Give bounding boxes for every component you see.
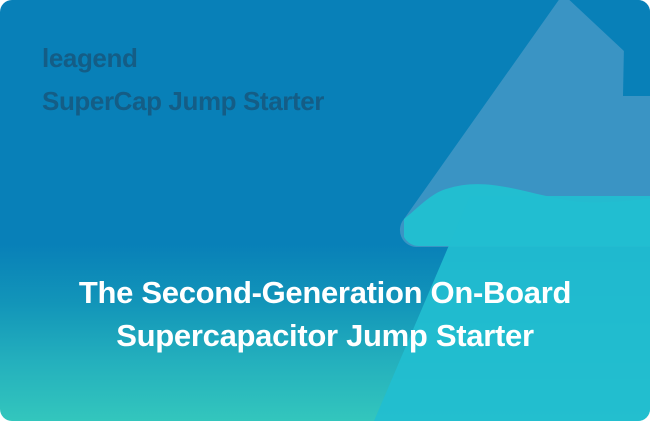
bolt-notch-cut xyxy=(623,0,650,96)
promo-banner: leagend SuperCap Jump Starter The Second… xyxy=(0,0,650,421)
brand-block: leagend SuperCap Jump Starter xyxy=(42,44,324,116)
headline-line-2: Supercapacitor Jump Starter xyxy=(16,315,634,358)
headline: The Second-Generation On-Board Supercapa… xyxy=(0,272,650,358)
headline-line-1: The Second-Generation On-Board xyxy=(16,272,634,315)
brand-name: leagend xyxy=(42,44,324,73)
bolt-wave-shape xyxy=(404,184,650,246)
brand-product-name: SuperCap Jump Starter xyxy=(42,87,324,116)
bolt-upper-shape xyxy=(400,0,650,247)
